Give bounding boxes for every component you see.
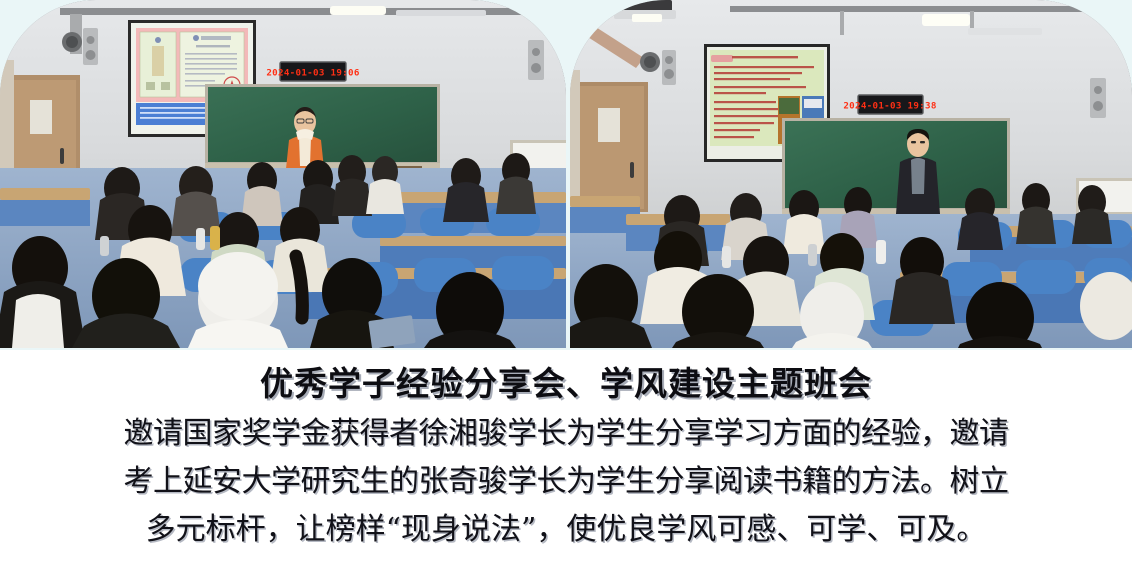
caption-block: 优秀学子经验分享会、学风建设主题班会 邀请国家奖学金获得者徐湘骏学长为学生分享学… [0,350,1132,581]
classroom-photo-right[interactable]: 2024-01-03 19:38 [570,0,1132,348]
caption-line-2: 考上延安大学研究生的张奇骏学长为学生分享阅读书籍的方法。树立 [8,458,1124,506]
caption-body: 邀请国家奖学金获得者徐湘骏学长为学生分享学习方面的经验，邀请 考上延安大学研究生… [0,410,1132,554]
caption-line-3: 多元标杆，让榜样“现身说法”，使优良学风可感、可学、可及。 [8,506,1124,554]
classroom-scene-left: 2024-01-03 19:06 [0,0,566,348]
led-clock-text-left: 2024-01-03 19:06 [266,68,359,79]
classroom-scene-right: 2024-01-03 19:38 [570,0,1132,348]
page-title: 优秀学子经验分享会、学风建设主题班会 [0,350,1132,406]
poster-root: 2024-01-03 19:06 [0,0,1132,581]
caption-line-1: 邀请国家奖学金获得者徐湘骏学长为学生分享学习方面的经验，邀请 [8,410,1124,458]
classroom-photo-left[interactable]: 2024-01-03 19:06 [0,0,566,348]
led-clock-text-right: 2024-01-03 19:38 [843,101,936,112]
photo-strip: 2024-01-03 19:06 [0,0,1132,350]
